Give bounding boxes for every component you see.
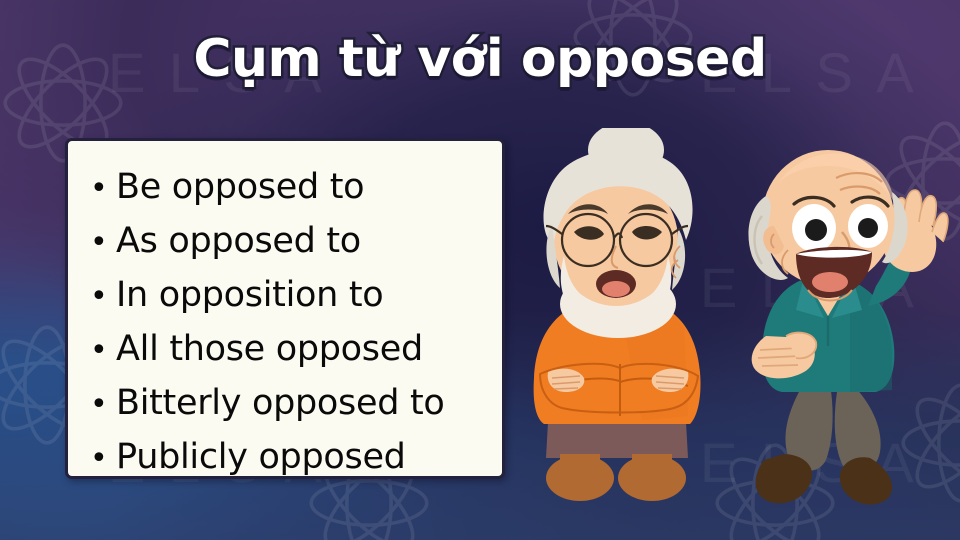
bullet-dot-icon: • bbox=[90, 379, 116, 431]
phrase-list: • Be opposed to • As opposed to • In opp… bbox=[90, 161, 492, 485]
slide-canvas: ELSA ELSA ELSA ELSA ELSA ELSA bbox=[0, 0, 960, 540]
list-item-label: Publicly opposed bbox=[116, 431, 492, 483]
phrase-list-card: • Be opposed to • As opposed to • In opp… bbox=[65, 138, 505, 479]
bullet-dot-icon: • bbox=[90, 433, 116, 485]
bullet-dot-icon: • bbox=[90, 271, 116, 323]
list-item-label: Be opposed to bbox=[116, 161, 492, 213]
list-item-label: All those opposed bbox=[116, 323, 492, 375]
list-item-label: As opposed to bbox=[116, 215, 492, 267]
list-item-label: Bitterly opposed to bbox=[116, 377, 492, 429]
list-item[interactable]: • Publicly opposed bbox=[90, 431, 492, 485]
bullet-dot-icon: • bbox=[90, 325, 116, 377]
bullet-dot-icon: • bbox=[90, 163, 116, 215]
happy-elderly-man-illustration bbox=[700, 140, 960, 540]
list-item[interactable]: • Be opposed to bbox=[90, 161, 492, 215]
bullet-dot-icon: • bbox=[90, 217, 116, 269]
page-title: Cụm từ với opposed bbox=[0, 32, 960, 87]
list-item[interactable]: • All those opposed bbox=[90, 323, 492, 377]
list-item-label: In opposition to bbox=[116, 269, 492, 321]
list-item[interactable]: • In opposition to bbox=[90, 269, 492, 323]
list-item[interactable]: • As opposed to bbox=[90, 215, 492, 269]
list-item[interactable]: • Bitterly opposed to bbox=[90, 377, 492, 431]
